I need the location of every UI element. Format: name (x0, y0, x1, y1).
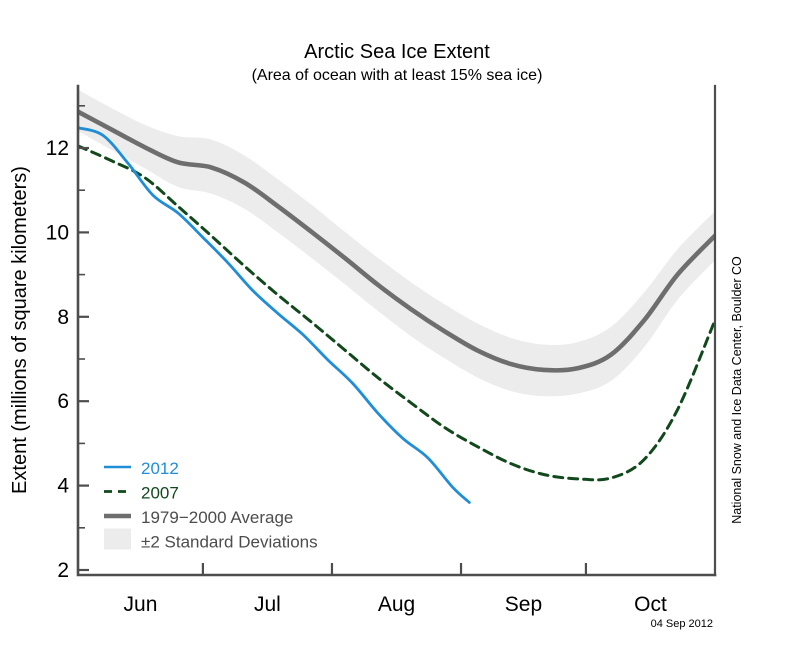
y-tick-label: 2 (57, 559, 69, 582)
chart-subtitle: (Area of ocean with at least 15% sea ice… (252, 67, 543, 84)
y-tick-label: 6 (57, 390, 69, 413)
chart-svg-canvas: Arctic Sea Ice Extent (Area of ocean wit… (0, 0, 800, 640)
x-tick-label-oct: Oct (634, 593, 667, 616)
date-stamp: 04 Sep 2012 (651, 618, 713, 630)
credit-label: National Snow and Ice Data Center, Bould… (730, 256, 744, 524)
y-tick-label: 12 (46, 137, 69, 160)
legend-swatch-std-dev (104, 529, 131, 550)
y-axis-title: Extent (millions of square kilometers) (9, 166, 31, 494)
y-tick-label: 8 (57, 306, 69, 329)
x-tick-label-aug: Aug (378, 593, 415, 616)
arctic-sea-ice-chart: Arctic Sea Ice Extent (Area of ocean wit… (0, 0, 800, 640)
legend-label-3: 1979−2000 Average (141, 508, 293, 527)
legend-label-2: 2007 (141, 484, 179, 503)
y-tick-label: 10 (46, 221, 69, 244)
x-tick-label-jun: Jun (124, 593, 158, 616)
y-tick-label: 4 (57, 475, 69, 498)
x-tick-label-sep: Sep (505, 593, 542, 616)
legend-label-1: 2012 (141, 459, 179, 478)
legend-label-4: ±2 Standard Deviations (141, 533, 318, 552)
x-tick-label-jul: Jul (254, 593, 281, 616)
chart-title: Arctic Sea Ice Extent (304, 41, 490, 63)
